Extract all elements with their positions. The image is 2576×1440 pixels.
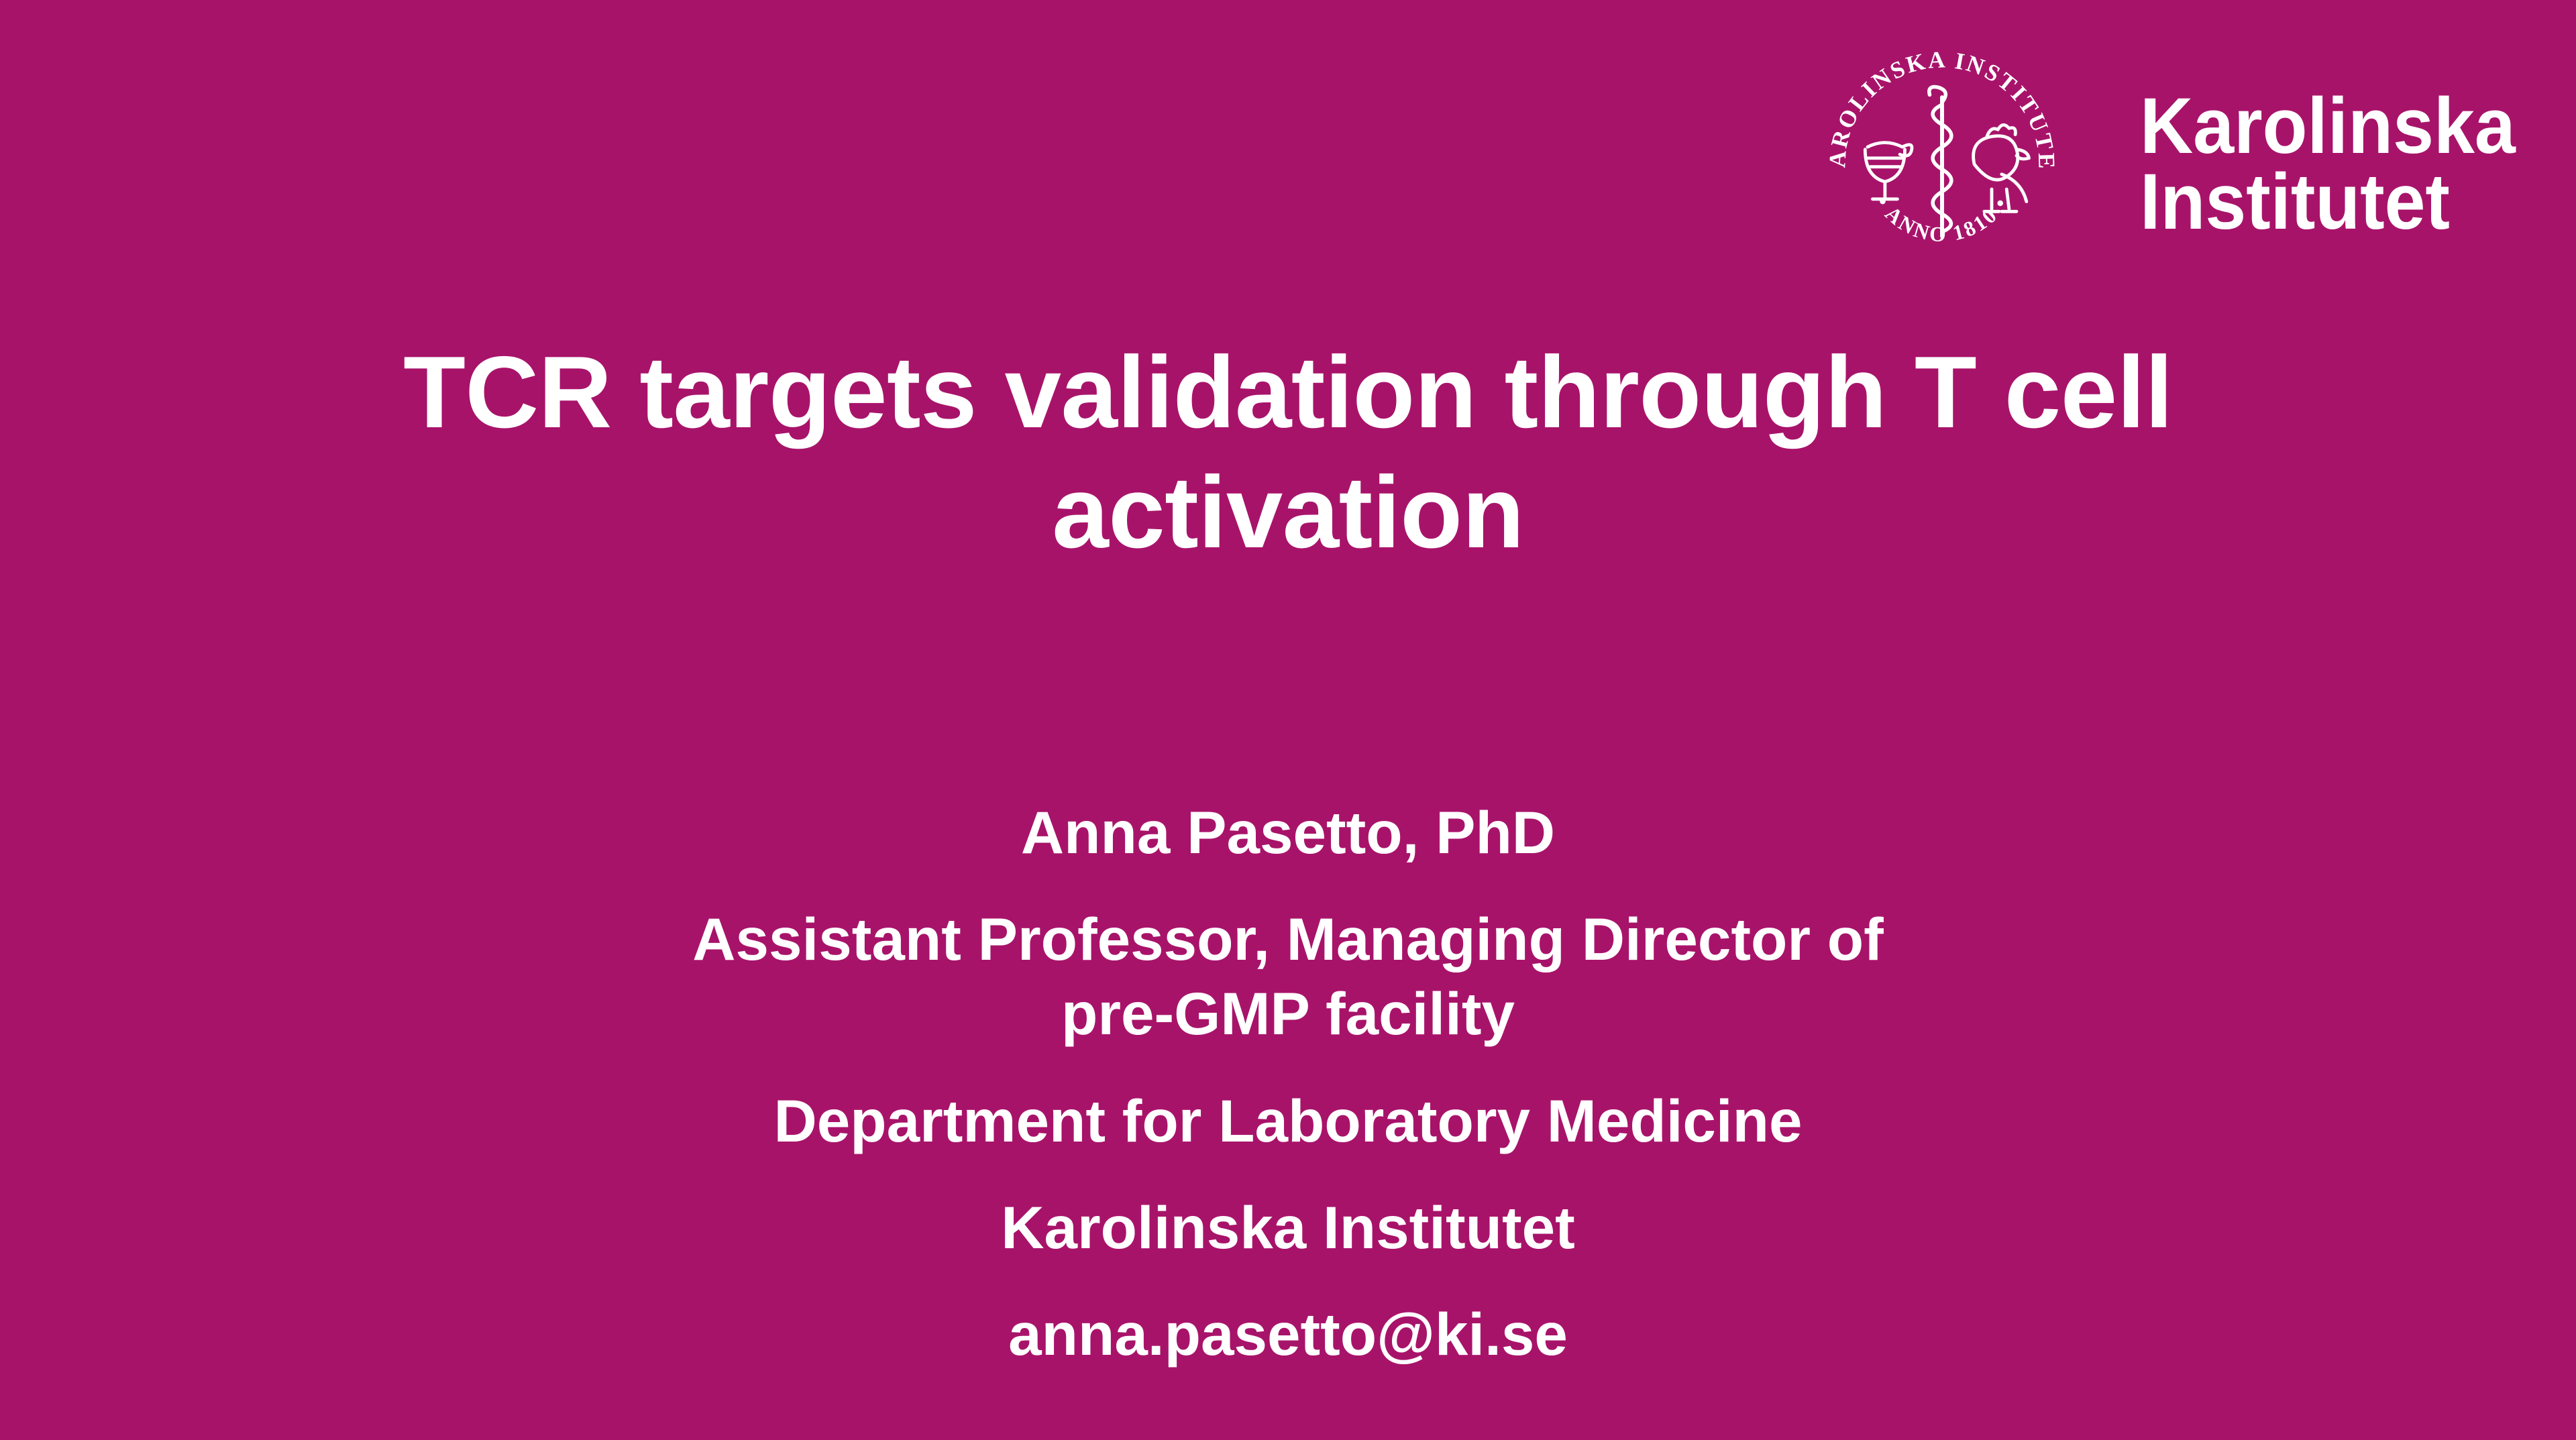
author-institution: Karolinska Institutet — [315, 1193, 2261, 1262]
wordmark-line-institutet: Institutet — [2140, 164, 2516, 240]
karolinska-wordmark: Karolinska Institutet — [2140, 89, 2544, 241]
presentation-slide: KAROLINSKA INSTITUTET • ANNO 1810 • — [0, 0, 2576, 1440]
author-department: Department for Laboratory Medicine — [315, 1087, 2261, 1156]
karolinska-seal-icon: KAROLINSKA INSTITUTET • ANNO 1810 • — [1818, 40, 2066, 288]
wordmark-line-karolinska: Karolinska — [2140, 89, 2516, 164]
author-name: Anna Pasetto, PhD — [315, 798, 2261, 867]
karolinska-institutet-logo: KAROLINSKA INSTITUTET • ANNO 1810 • — [1818, 40, 2544, 288]
author-role-line-2: pre-GMP facility — [315, 979, 2261, 1048]
author-affiliation-block: Anna Pasetto, PhD Assistant Professor, M… — [315, 798, 2261, 1369]
slide-title-line-1: TCR targets validation through T cell — [248, 333, 2328, 453]
author-role-line-1: Assistant Professor, Managing Director o… — [315, 905, 2261, 974]
slide-title-line-2: activation — [248, 453, 2328, 573]
author-email: anna.pasetto@ki.se — [315, 1300, 2261, 1369]
slide-title: TCR targets validation through T cell ac… — [248, 333, 2328, 573]
